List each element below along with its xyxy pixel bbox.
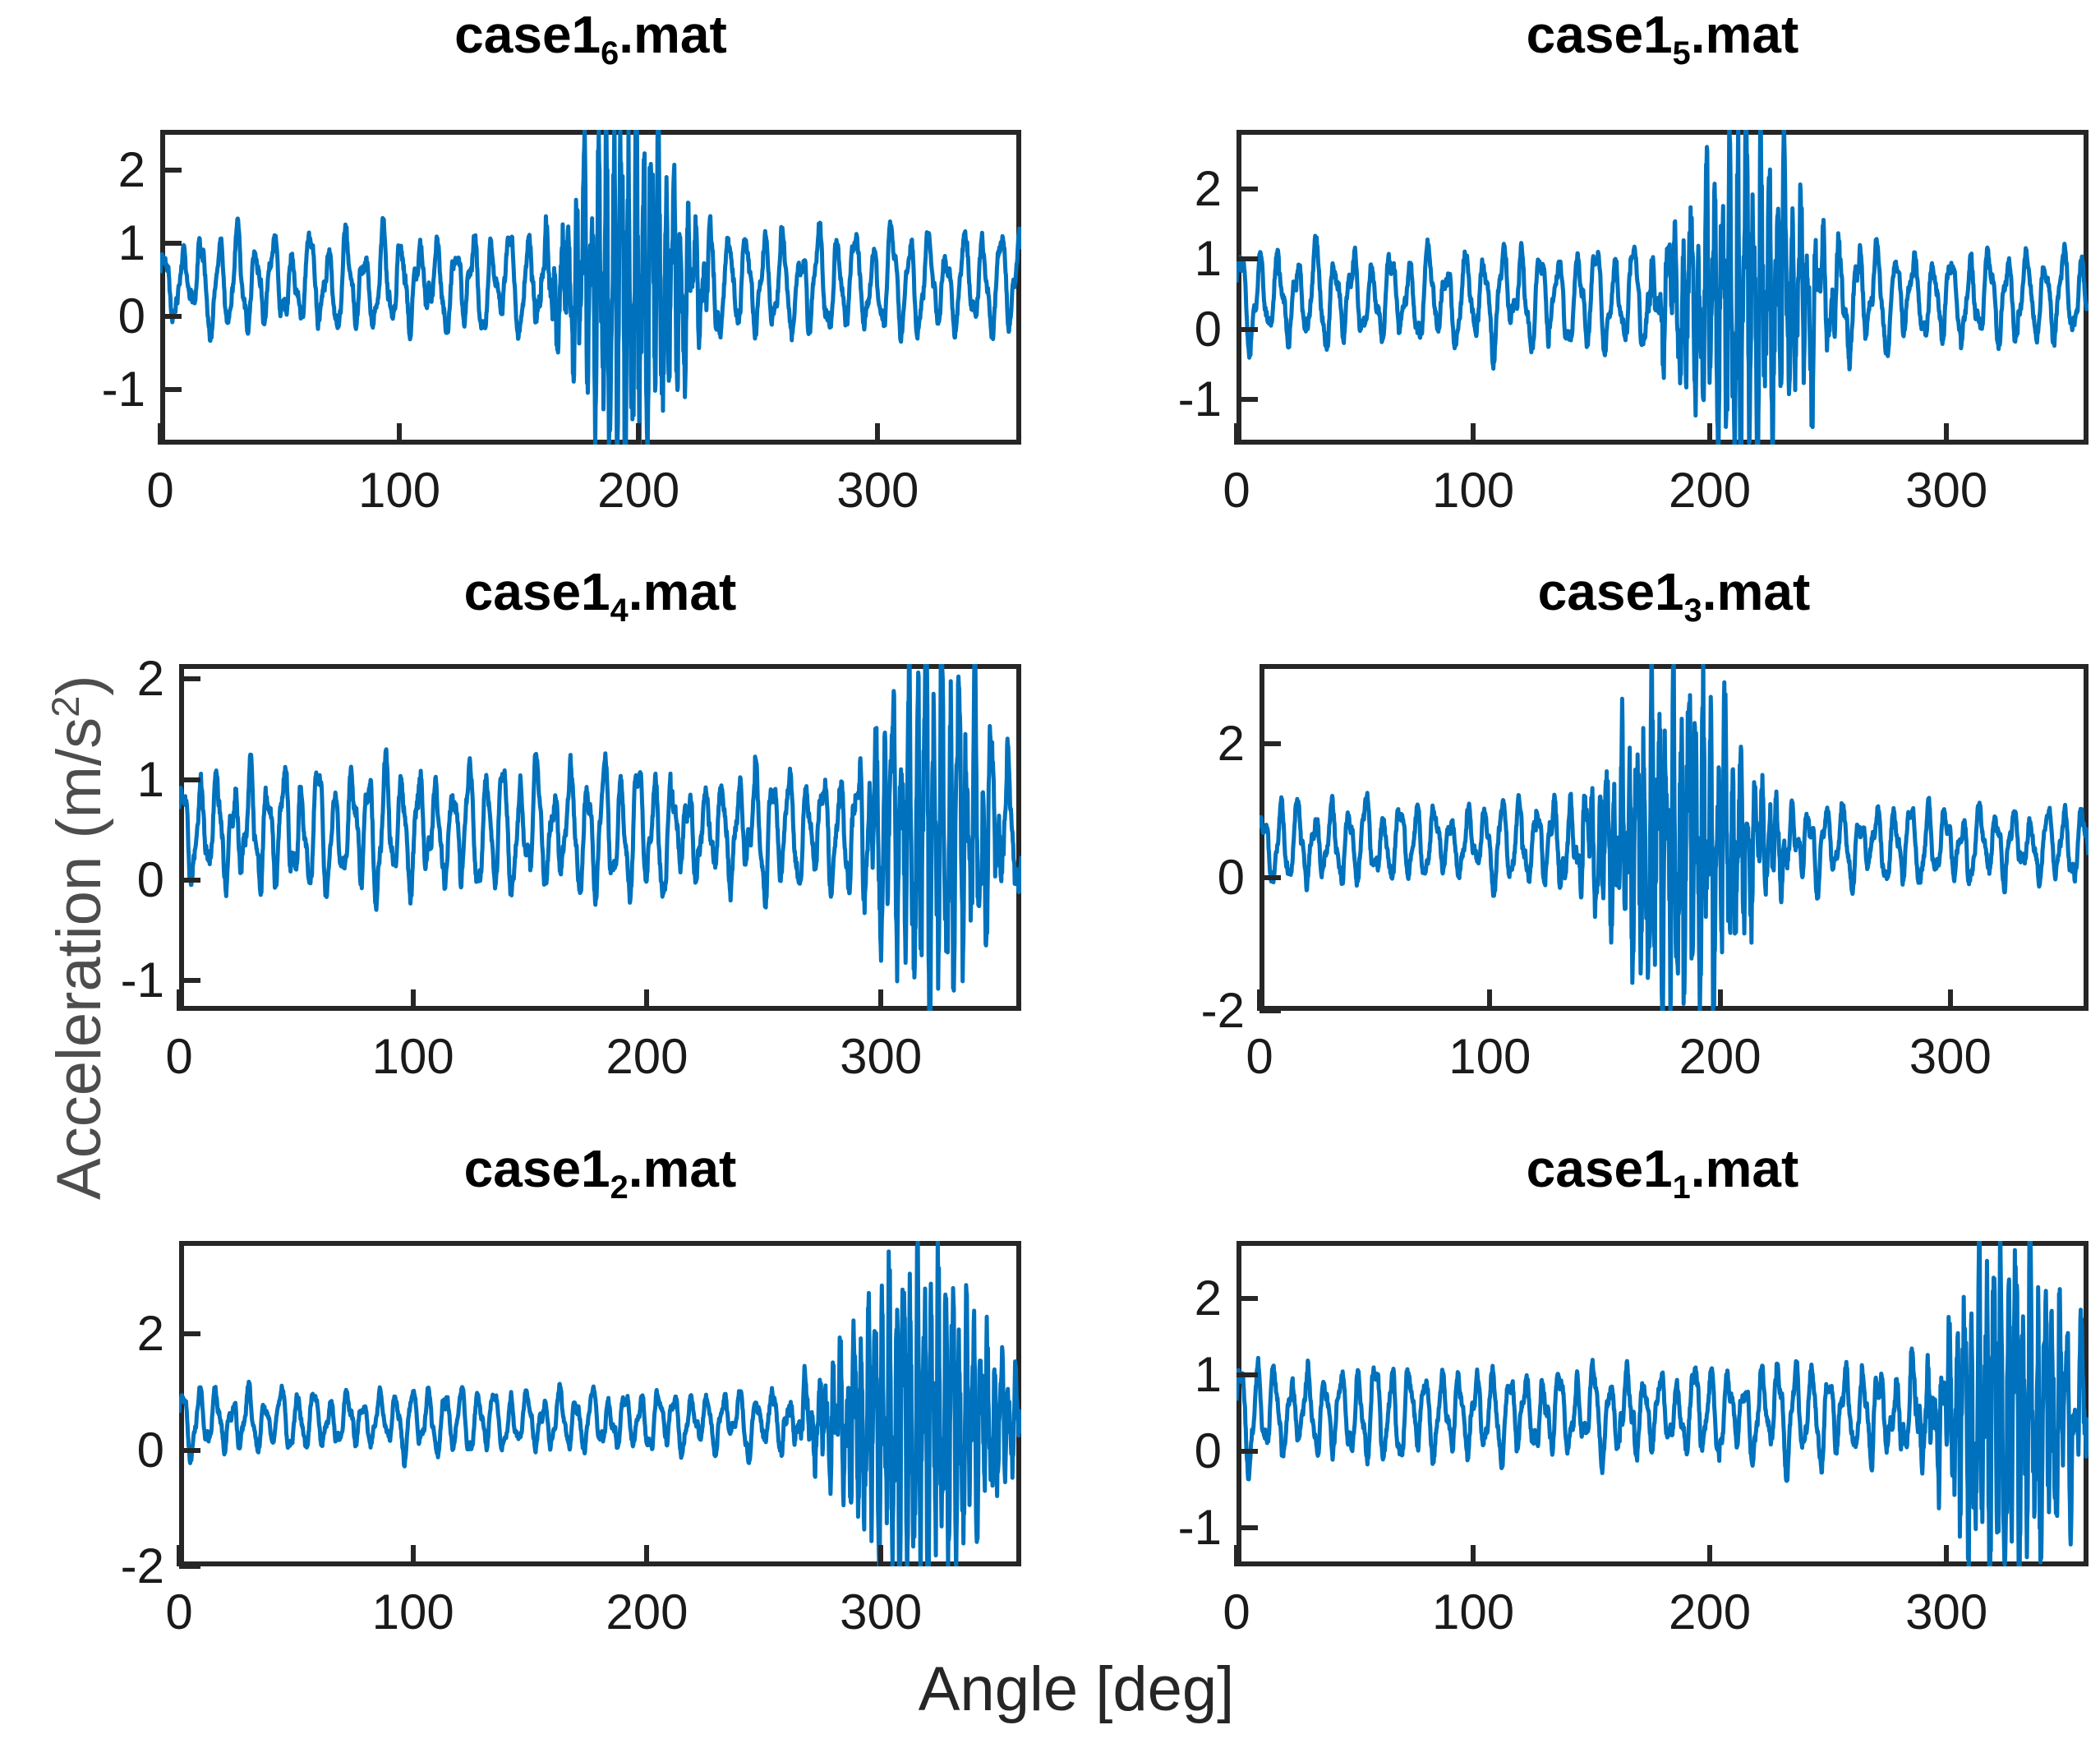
- subplot-middle-right: [1260, 664, 2088, 1011]
- title-subscript: 5: [1673, 35, 1691, 71]
- subplot-title-top-right: case15.mat: [1237, 8, 2088, 71]
- y-tick-mark: [1260, 875, 1281, 880]
- title-base: case1: [1527, 1139, 1673, 1198]
- x-tick-label: 200: [606, 1588, 688, 1637]
- y-tick-label: 0: [1218, 853, 1245, 902]
- x-tick-label: 200: [1679, 1032, 1761, 1082]
- y-tick-label: 0: [118, 292, 145, 341]
- y-tick-mark: [1260, 741, 1281, 746]
- title-suffix: .mat: [619, 5, 727, 64]
- y-axis-label-text: Acceleration (m/s: [44, 717, 114, 1200]
- y-tick-mark: [160, 168, 182, 173]
- y-tick-label: 0: [137, 1426, 164, 1475]
- title-base: case1: [464, 562, 610, 621]
- title-suffix: .mat: [1691, 1139, 1799, 1198]
- x-tick-label: 300: [836, 466, 919, 515]
- x-tick-mark: [1234, 423, 1239, 445]
- x-tick-label: 100: [358, 466, 440, 515]
- title-base: case1: [454, 5, 601, 64]
- x-tick-label: 100: [1432, 1588, 1514, 1637]
- x-tick-label: 0: [1246, 1032, 1273, 1082]
- y-tick-label: -1: [102, 365, 145, 414]
- data-trace-bottom-right: [1237, 1241, 2088, 1566]
- x-tick-label: 100: [372, 1032, 454, 1082]
- title-suffix: .mat: [629, 1139, 737, 1198]
- x-tick-mark: [397, 423, 402, 445]
- data-trace-top-right: [1237, 130, 2088, 445]
- subplot-title-middle-left: case14.mat: [179, 565, 1021, 628]
- x-tick-label: 0: [1223, 1588, 1250, 1637]
- y-tick-mark: [179, 1448, 200, 1453]
- x-tick-mark: [1707, 1545, 1712, 1566]
- y-tick-label: -2: [1201, 986, 1245, 1035]
- subplot-title-top-left: case16.mat: [160, 8, 1021, 71]
- y-axis-label: Acceleration (m/s2): [43, 675, 115, 1200]
- x-tick-mark: [878, 1545, 883, 1566]
- y-tick-mark: [1237, 187, 1258, 191]
- x-tick-label: 0: [1223, 466, 1250, 515]
- x-tick-mark: [1234, 1545, 1239, 1566]
- y-tick-label: 2: [137, 1309, 164, 1358]
- y-tick-mark: [1237, 1372, 1258, 1377]
- data-trace-middle-right: [1260, 664, 2088, 1011]
- data-trace-top-left: [160, 130, 1021, 445]
- data-trace-middle-left: [179, 664, 1021, 1011]
- x-tick-label: 200: [597, 466, 679, 515]
- x-tick-mark: [1944, 1545, 1949, 1566]
- x-tick-mark: [644, 1545, 649, 1566]
- y-tick-label: 1: [118, 219, 145, 268]
- y-tick-label: 0: [1195, 305, 1222, 354]
- y-tick-label: -1: [1178, 375, 1222, 424]
- x-tick-label: 300: [1909, 1032, 1992, 1082]
- y-tick-label: -2: [121, 1542, 164, 1591]
- title-base: case1: [1538, 562, 1684, 621]
- y-axis-label-exponent: 2: [44, 696, 87, 717]
- y-tick-mark: [179, 978, 200, 983]
- y-tick-mark: [1237, 327, 1258, 332]
- subplot-bottom-right: [1237, 1241, 2088, 1566]
- y-tick-mark: [1237, 397, 1258, 402]
- y-tick-mark: [179, 1564, 200, 1569]
- x-tick-label: 300: [1905, 1588, 1987, 1637]
- x-tick-mark: [411, 989, 416, 1011]
- y-tick-mark: [1237, 1525, 1258, 1530]
- data-trace-bottom-left: [179, 1241, 1021, 1566]
- x-tick-label: 100: [372, 1588, 454, 1637]
- x-tick-label: 0: [146, 466, 173, 515]
- y-tick-label: 1: [1195, 1350, 1222, 1400]
- x-tick-label: 100: [1448, 1032, 1531, 1082]
- x-tick-mark: [636, 423, 641, 445]
- y-tick-mark: [1237, 256, 1258, 261]
- x-tick-label: 200: [1669, 1588, 1751, 1637]
- x-tick-mark: [1471, 1545, 1476, 1566]
- title-subscript: 3: [1684, 593, 1702, 629]
- y-tick-label: -1: [1178, 1503, 1222, 1552]
- x-tick-label: 200: [1669, 466, 1751, 515]
- x-tick-mark: [177, 1545, 182, 1566]
- x-tick-mark: [1257, 989, 1262, 1011]
- x-tick-mark: [1487, 989, 1492, 1011]
- title-suffix: .mat: [629, 562, 737, 621]
- x-axis-label: Angle [deg]: [912, 1653, 1241, 1725]
- y-tick-label: 2: [1195, 1274, 1222, 1323]
- title-subscript: 1: [1673, 1169, 1691, 1206]
- x-tick-label: 0: [165, 1588, 192, 1637]
- subplot-title-bottom-left: case12.mat: [179, 1142, 1021, 1205]
- y-tick-label: 0: [137, 856, 164, 905]
- title-base: case1: [1527, 5, 1673, 64]
- x-tick-mark: [875, 423, 880, 445]
- subplot-top-left: [160, 130, 1021, 445]
- y-tick-label: 0: [1195, 1427, 1222, 1476]
- x-tick-mark: [1707, 423, 1712, 445]
- x-tick-label: 300: [840, 1032, 922, 1082]
- x-tick-mark: [878, 989, 883, 1011]
- x-tick-mark: [177, 989, 182, 1011]
- x-tick-label: 300: [840, 1588, 922, 1637]
- title-base: case1: [464, 1139, 610, 1198]
- x-tick-label: 200: [606, 1032, 688, 1082]
- x-tick-label: 100: [1432, 466, 1514, 515]
- y-tick-mark: [179, 676, 200, 681]
- y-tick-label: 1: [1195, 234, 1222, 284]
- y-tick-mark: [1260, 1008, 1281, 1013]
- title-suffix: .mat: [1691, 5, 1799, 64]
- subplot-top-right: [1237, 130, 2088, 445]
- x-tick-mark: [1471, 423, 1476, 445]
- title-subscript: 2: [610, 1169, 629, 1206]
- title-suffix: .mat: [1702, 562, 1811, 621]
- y-tick-mark: [179, 777, 200, 782]
- y-tick-mark: [160, 314, 182, 319]
- x-tick-mark: [411, 1545, 416, 1566]
- y-tick-label: 1: [137, 755, 164, 805]
- y-axis-label-close: ): [44, 675, 114, 695]
- title-subscript: 4: [610, 593, 629, 629]
- title-subscript: 6: [601, 35, 619, 71]
- x-tick-mark: [1948, 989, 1953, 1011]
- y-tick-mark: [179, 878, 200, 883]
- x-tick-label: 300: [1905, 466, 1987, 515]
- y-tick-label: -1: [121, 956, 164, 1005]
- subplot-title-middle-right: case13.mat: [1260, 565, 2088, 628]
- x-tick-mark: [644, 989, 649, 1011]
- y-tick-label: 2: [137, 654, 164, 703]
- subplot-title-bottom-right: case11.mat: [1237, 1142, 2088, 1205]
- x-tick-mark: [1944, 423, 1949, 445]
- y-tick-mark: [1237, 1449, 1258, 1454]
- y-tick-label: 2: [118, 145, 145, 195]
- x-tick-mark: [1718, 989, 1723, 1011]
- y-tick-mark: [160, 387, 182, 392]
- figure-canvas: case16.mat210-10100200300case15.mat210-1…: [0, 0, 2100, 1748]
- subplot-bottom-left: [179, 1241, 1021, 1566]
- y-tick-label: 2: [1195, 164, 1222, 214]
- y-tick-label: 2: [1218, 719, 1245, 768]
- subplot-middle-left: [179, 664, 1021, 1011]
- y-tick-mark: [179, 1331, 200, 1336]
- y-tick-mark: [160, 241, 182, 246]
- x-tick-label: 0: [165, 1032, 192, 1082]
- x-tick-mark: [158, 423, 163, 445]
- y-tick-mark: [1237, 1296, 1258, 1301]
